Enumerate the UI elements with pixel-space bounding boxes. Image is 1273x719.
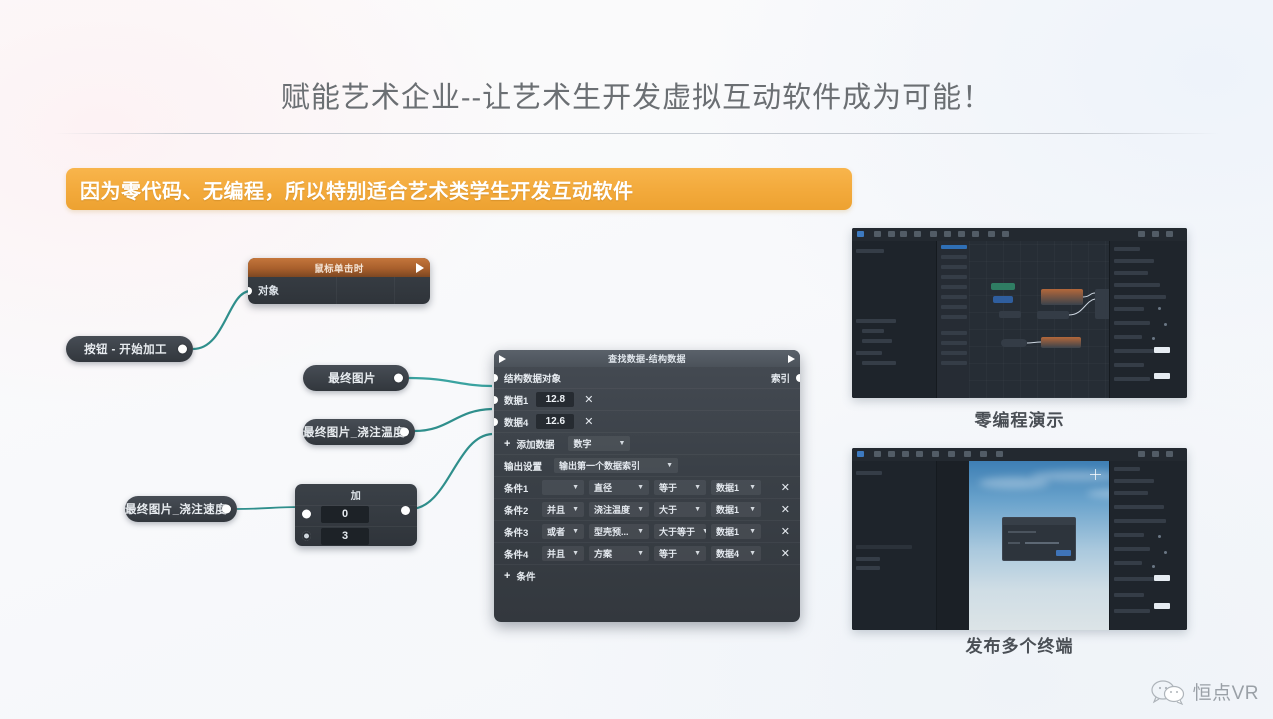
toolbar-icon bbox=[948, 451, 955, 457]
chevron-down-icon: ▼ bbox=[637, 506, 644, 513]
toolbar-icon bbox=[1152, 451, 1159, 457]
panel-item bbox=[1114, 479, 1154, 483]
editor-inspector-panel[interactable] bbox=[1109, 461, 1187, 630]
panel-item bbox=[941, 265, 967, 269]
scene-dialog-panel[interactable] bbox=[1002, 517, 1076, 561]
operand-value-b[interactable]: 3 bbox=[321, 528, 369, 545]
toolbar-icon bbox=[857, 451, 864, 457]
panel-color-field bbox=[1154, 347, 1170, 353]
input-port[interactable] bbox=[494, 396, 498, 404]
node-header: 查找数据-结构数据 bbox=[494, 350, 800, 367]
add-condition-label: 条件 bbox=[516, 569, 535, 583]
panel-toggle bbox=[1152, 337, 1155, 340]
node-pill-label: 最终图片 bbox=[328, 370, 376, 386]
add-data-label: 添加数据 bbox=[516, 437, 554, 451]
toolbar-icon bbox=[874, 451, 881, 457]
node-pill-label: 按钮 - 开始加工 bbox=[84, 341, 167, 357]
toolbar-icon bbox=[900, 231, 907, 237]
node-pill-label: 最终图片_浇注温度 bbox=[303, 424, 405, 440]
node-operand-row-a[interactable]: 0 bbox=[295, 504, 417, 524]
condition-row-3[interactable]: 条件3 或者 ▼ 型壳预... ▼ 大于等于 ▼ 数据1 ▼ ✕ bbox=[494, 521, 800, 543]
node-input-label: 对象 bbox=[258, 283, 279, 298]
condition-field-value: 浇注温度 bbox=[594, 503, 630, 516]
panel-item bbox=[1114, 259, 1154, 263]
panel-item bbox=[1114, 547, 1150, 551]
panel-item bbox=[941, 305, 967, 309]
output-port[interactable] bbox=[400, 428, 409, 437]
condition-field-select[interactable]: 方案 ▼ bbox=[589, 546, 649, 561]
condition-operator-select[interactable]: 等于 ▼ bbox=[654, 480, 706, 495]
panel-item bbox=[941, 285, 967, 289]
condition-label: 条件4 bbox=[504, 547, 537, 561]
flow-input-arrow-icon[interactable] bbox=[499, 355, 506, 363]
panel-item bbox=[1114, 505, 1164, 509]
chevron-down-icon: ▼ bbox=[694, 550, 701, 557]
input-port[interactable] bbox=[302, 532, 311, 541]
panel-item bbox=[862, 339, 892, 343]
condition-label: 条件3 bbox=[504, 525, 537, 539]
node-mouse-click-event[interactable]: 鼠标单击时 对象 bbox=[248, 258, 430, 304]
watermark: 恒点VR bbox=[1150, 678, 1259, 705]
screenshot-caption-top: 零编程演示 bbox=[852, 406, 1187, 431]
toolbar-icon bbox=[1166, 451, 1173, 457]
editor-node-canvas[interactable] bbox=[969, 241, 1109, 398]
row-add-data[interactable]: + 添加数据 数字 ▼ bbox=[494, 433, 800, 455]
data-row-value[interactable]: 12.6 bbox=[536, 414, 574, 429]
condition-row-2[interactable]: 条件2 并且 ▼ 浇注温度 ▼ 大于 ▼ 数据1 ▼ ✕ bbox=[494, 499, 800, 521]
chevron-down-icon: ▼ bbox=[666, 462, 673, 469]
output-port[interactable] bbox=[401, 506, 410, 515]
panel-item bbox=[941, 275, 967, 279]
node-pill-final-image-speed[interactable]: 最终图片_浇注速度 bbox=[125, 496, 237, 522]
panel-item bbox=[856, 566, 880, 570]
node-find-data-structure[interactable]: 查找数据-结构数据 结构数据对象 索引 数据1 12.8 ✕ 数据4 12.6 … bbox=[494, 350, 800, 622]
panel-item bbox=[941, 315, 967, 319]
screenshot-zero-programming-demo[interactable] bbox=[852, 228, 1187, 398]
condition-field-select[interactable]: 直径 ▼ bbox=[589, 480, 649, 495]
data-row-label: 数据1 bbox=[504, 393, 528, 407]
panel-item bbox=[1114, 283, 1160, 287]
condition-field-value: 型壳预... bbox=[594, 525, 629, 538]
toolbar-icon bbox=[888, 231, 895, 237]
toolbar-icon bbox=[914, 231, 921, 237]
data-row-label: 数据4 bbox=[504, 415, 528, 429]
condition-operator-value: 大于等于 bbox=[659, 525, 695, 538]
cloud bbox=[1031, 471, 1121, 481]
condition-target-value: 数据4 bbox=[716, 547, 739, 560]
toolbar-icon bbox=[1166, 231, 1173, 237]
output-port[interactable] bbox=[222, 505, 231, 514]
toolbar-icon bbox=[916, 451, 923, 457]
node-graph-canvas: 按钮 - 开始加工 最终图片 最终图片_浇注温度 最终图片_浇注速度 鼠标单击时… bbox=[0, 0, 840, 719]
toolbar-icon bbox=[932, 451, 939, 457]
panel-item bbox=[856, 351, 882, 355]
panel-color-field bbox=[1154, 575, 1170, 581]
panel-item bbox=[941, 295, 967, 299]
condition-target-select[interactable]: 数据1 ▼ bbox=[711, 524, 761, 539]
chevron-down-icon: ▼ bbox=[637, 550, 644, 557]
watermark-label: 恒点VR bbox=[1193, 678, 1259, 705]
panel-item bbox=[856, 319, 896, 323]
remove-condition-icon[interactable]: ✕ bbox=[781, 525, 790, 538]
panel-item bbox=[1114, 271, 1148, 275]
panel-item bbox=[1114, 533, 1144, 537]
panel-item bbox=[941, 351, 967, 355]
screenshot-caption-bottom: 发布多个终端 bbox=[852, 632, 1187, 657]
node-header: 鼠标单击时 bbox=[248, 258, 430, 277]
panel-color-field bbox=[1154, 373, 1170, 379]
node-pill-button-start[interactable]: 按钮 - 开始加工 bbox=[66, 336, 193, 362]
remove-condition-icon[interactable]: ✕ bbox=[781, 481, 790, 494]
chevron-down-icon: ▼ bbox=[572, 550, 579, 557]
node-operand-row-b[interactable]: 3 bbox=[295, 526, 417, 546]
chevron-down-icon: ▼ bbox=[572, 528, 579, 535]
panel-item bbox=[941, 341, 967, 345]
condition-operator-select[interactable]: 等于 ▼ bbox=[654, 546, 706, 561]
condition-logic-value: 或者 bbox=[547, 525, 565, 538]
flow-output-arrow-icon[interactable] bbox=[416, 263, 424, 273]
toolbar-icon bbox=[902, 451, 909, 457]
panel-item bbox=[1114, 609, 1150, 613]
panel-item bbox=[856, 249, 884, 253]
mini-wires bbox=[969, 241, 1109, 398]
condition-field-value: 方案 bbox=[594, 547, 612, 560]
panel-item bbox=[1114, 363, 1144, 367]
remove-condition-icon[interactable]: ✕ bbox=[781, 503, 790, 516]
index-output-label: 索引 bbox=[771, 371, 790, 385]
condition-logic-select[interactable]: 并且 ▼ bbox=[542, 502, 584, 517]
panel-item bbox=[862, 329, 884, 333]
panel-item bbox=[1114, 335, 1142, 339]
dialog-text-line bbox=[1008, 531, 1036, 533]
panel-toggle bbox=[1164, 323, 1167, 326]
add-data-type-select[interactable]: 数字 ▼ bbox=[568, 436, 630, 451]
panel-toggle bbox=[1164, 551, 1167, 554]
toolbar-icon bbox=[930, 231, 937, 237]
panel-item bbox=[941, 245, 967, 249]
toolbar-icon bbox=[1138, 451, 1145, 457]
condition-logic-value: 并且 bbox=[547, 547, 565, 560]
panel-toggle bbox=[1158, 535, 1161, 538]
add-data-type-value: 数字 bbox=[573, 437, 591, 450]
node-pill-final-image[interactable]: 最终图片 bbox=[303, 365, 409, 391]
node-input-row[interactable]: 对象 bbox=[248, 277, 430, 304]
editor-toolbar bbox=[852, 228, 1187, 241]
editor-inspector-panel[interactable] bbox=[1109, 241, 1187, 398]
condition-logic-select[interactable]: 并且 ▼ bbox=[542, 546, 584, 561]
toolbar-icon bbox=[1138, 231, 1145, 237]
panel-item bbox=[856, 545, 912, 549]
chevron-down-icon: ▼ bbox=[619, 440, 626, 447]
chevron-down-icon: ▼ bbox=[572, 506, 579, 513]
input-port[interactable] bbox=[494, 374, 498, 382]
node-add-operation[interactable]: 加 0 3 bbox=[295, 484, 417, 546]
condition-field-select[interactable]: 浇注温度 ▼ bbox=[589, 502, 649, 517]
dialog-header bbox=[1003, 518, 1075, 525]
scene-viewport[interactable] bbox=[969, 461, 1109, 630]
chevron-down-icon: ▼ bbox=[572, 484, 579, 491]
plus-icon[interactable]: + bbox=[504, 570, 510, 582]
row-add-condition[interactable]: + 条件 bbox=[494, 565, 800, 587]
panel-item bbox=[1114, 247, 1140, 251]
toolbar-icon bbox=[1152, 231, 1159, 237]
toolbar-icon bbox=[958, 231, 965, 237]
chevron-down-icon: ▼ bbox=[694, 506, 701, 513]
panel-item bbox=[1114, 577, 1154, 581]
condition-logic-select[interactable]: 或者 ▼ bbox=[542, 524, 584, 539]
panel-item bbox=[941, 361, 967, 365]
toolbar-icon bbox=[964, 451, 971, 457]
condition-operator-value: 等于 bbox=[659, 481, 677, 494]
chevron-down-icon: ▼ bbox=[749, 550, 756, 557]
remove-condition-icon[interactable]: ✕ bbox=[781, 547, 790, 560]
chevron-down-icon: ▼ bbox=[637, 484, 644, 491]
output-setting-value: 输出第一个数据索引 bbox=[559, 459, 640, 472]
condition-target-value: 数据1 bbox=[716, 503, 739, 516]
row-data-4[interactable]: 数据4 12.6 ✕ bbox=[494, 411, 800, 433]
toolbar-icon bbox=[857, 231, 864, 237]
remove-data-icon[interactable]: ✕ bbox=[584, 393, 593, 406]
node-header-label: 鼠标单击时 bbox=[314, 261, 364, 275]
chevron-down-icon: ▼ bbox=[694, 484, 701, 491]
operand-value-a[interactable]: 0 bbox=[321, 506, 369, 523]
condition-target-select[interactable]: 数据1 ▼ bbox=[711, 480, 761, 495]
toolbar-icon bbox=[980, 451, 987, 457]
toolbar-icon bbox=[944, 231, 951, 237]
remove-data-icon[interactable]: ✕ bbox=[584, 415, 593, 428]
panel-item bbox=[862, 361, 896, 365]
row-data-1[interactable]: 数据1 12.8 ✕ bbox=[494, 389, 800, 411]
condition-operator-value: 大于 bbox=[659, 503, 677, 516]
editor-toolbar bbox=[852, 448, 1187, 461]
panel-item bbox=[1114, 593, 1144, 597]
plus-icon[interactable]: + bbox=[504, 438, 510, 450]
row-structure-object[interactable]: 结构数据对象 索引 bbox=[494, 367, 800, 389]
panel-toggle bbox=[1152, 565, 1155, 568]
condition-operator-select[interactable]: 大于等于 ▼ bbox=[654, 524, 706, 539]
toolbar-icon bbox=[1002, 231, 1009, 237]
output-port[interactable] bbox=[796, 374, 800, 382]
node-pill-label: 最终图片_浇注速度 bbox=[125, 501, 227, 517]
toolbar-icon bbox=[996, 451, 1003, 457]
chevron-down-icon: ▼ bbox=[749, 484, 756, 491]
condition-label: 条件2 bbox=[504, 503, 537, 517]
condition-logic-value: 并且 bbox=[547, 503, 565, 516]
input-port[interactable] bbox=[248, 287, 252, 295]
condition-label: 条件1 bbox=[504, 481, 537, 495]
condition-target-value: 数据1 bbox=[716, 481, 739, 494]
toolbar-icon bbox=[972, 231, 979, 237]
toolbar-icon bbox=[988, 231, 995, 237]
editor-hierarchy-panel[interactable] bbox=[852, 241, 937, 398]
condition-field-select[interactable]: 型壳预... ▼ bbox=[589, 524, 649, 539]
panel-item bbox=[856, 557, 880, 561]
editor-asset-panel[interactable] bbox=[937, 241, 969, 398]
node-header-label: 查找数据-结构数据 bbox=[608, 352, 686, 365]
screenshot-multi-terminal-publish[interactable] bbox=[852, 448, 1187, 630]
condition-row-1[interactable]: 条件1 ▼ 直径 ▼ 等于 ▼ 数据1 ▼ ✕ bbox=[494, 477, 800, 499]
flow-output-arrow-icon[interactable] bbox=[788, 355, 795, 363]
data-row-value[interactable]: 12.8 bbox=[536, 392, 574, 407]
dialog-text-line bbox=[1008, 542, 1020, 544]
chevron-down-icon: ▼ bbox=[749, 528, 756, 535]
viewport-gizmo-icon bbox=[1090, 469, 1101, 480]
dialog-confirm-button[interactable] bbox=[1056, 550, 1071, 556]
row-output-setting[interactable]: 输出设置 输出第一个数据索引 ▼ bbox=[494, 455, 800, 477]
condition-target-value: 数据1 bbox=[716, 525, 739, 538]
condition-operator-value: 等于 bbox=[659, 547, 677, 560]
panel-item bbox=[1114, 467, 1140, 471]
panel-item bbox=[941, 331, 967, 335]
condition-row-4[interactable]: 条件4 并且 ▼ 方案 ▼ 等于 ▼ 数据4 ▼ ✕ bbox=[494, 543, 800, 565]
output-setting-select[interactable]: 输出第一个数据索引 ▼ bbox=[554, 458, 678, 473]
toolbar-icon bbox=[874, 231, 881, 237]
condition-operator-select[interactable]: 大于 ▼ bbox=[654, 502, 706, 517]
chevron-down-icon: ▼ bbox=[702, 528, 706, 535]
dialog-slider[interactable] bbox=[1025, 542, 1059, 544]
chevron-down-icon: ▼ bbox=[637, 528, 644, 535]
wechat-icon bbox=[1150, 679, 1186, 705]
panel-item bbox=[1114, 321, 1150, 325]
panel-item bbox=[1114, 307, 1144, 311]
panel-toggle bbox=[1158, 307, 1161, 310]
output-port[interactable] bbox=[394, 374, 403, 383]
panel-item bbox=[1114, 377, 1150, 381]
panel-item bbox=[1114, 295, 1166, 299]
structure-object-label: 结构数据对象 bbox=[504, 371, 561, 385]
editor-hierarchy-panel[interactable] bbox=[852, 461, 937, 630]
panel-item bbox=[1114, 519, 1166, 523]
input-port[interactable] bbox=[302, 510, 311, 519]
panel-item bbox=[1114, 491, 1148, 495]
node-title: 加 bbox=[295, 484, 417, 502]
toolbar-icon bbox=[888, 451, 895, 457]
node-pill-final-image-temperature[interactable]: 最终图片_浇注温度 bbox=[303, 419, 415, 445]
output-setting-label: 输出设置 bbox=[504, 459, 542, 473]
panel-item bbox=[856, 471, 882, 475]
panel-item bbox=[1114, 349, 1154, 353]
input-port[interactable] bbox=[494, 418, 498, 426]
output-port[interactable] bbox=[178, 345, 187, 354]
condition-field-value: 直径 bbox=[594, 481, 612, 494]
condition-target-select[interactable]: 数据1 ▼ bbox=[711, 502, 761, 517]
condition-target-select[interactable]: 数据4 ▼ bbox=[711, 546, 761, 561]
panel-item bbox=[941, 255, 967, 259]
panel-item bbox=[1114, 561, 1142, 565]
condition-logic-select[interactable]: ▼ bbox=[542, 480, 584, 495]
chevron-down-icon: ▼ bbox=[749, 506, 756, 513]
panel-color-field bbox=[1154, 603, 1170, 609]
